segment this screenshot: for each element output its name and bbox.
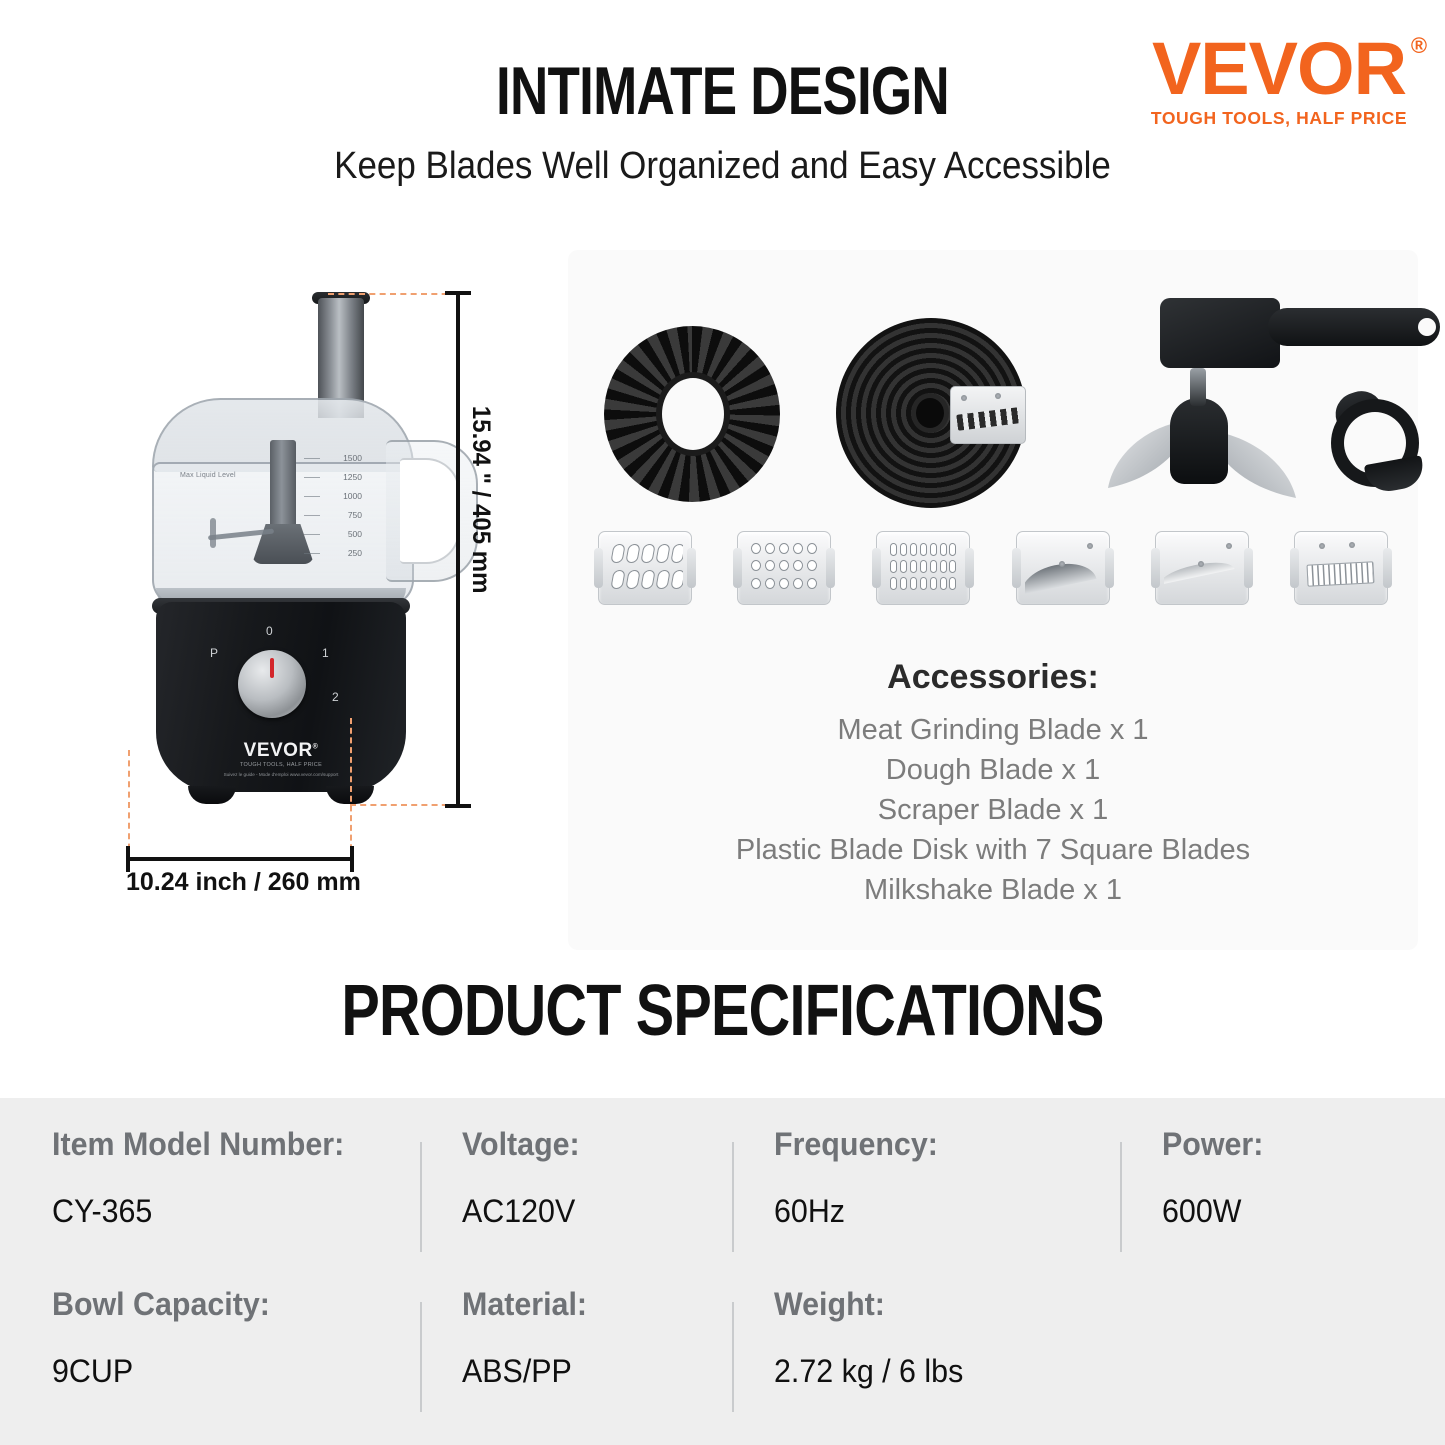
base-foot-left <box>188 786 236 804</box>
specs-table: Item Model Number: CY-365 Voltage: AC120… <box>0 1098 1445 1445</box>
spec-label: Weight: <box>774 1286 1103 1323</box>
specs-row-2: Bowl Capacity: 9CUP Material: ABS/PP Wei… <box>0 1286 1445 1436</box>
julienne-insert <box>1294 531 1388 605</box>
spec-value: ABS/PP <box>462 1353 719 1390</box>
list-item: Meat Grinding Blade x 1 <box>568 710 1418 750</box>
spatula-head <box>1160 298 1280 368</box>
accessories-insert-blades <box>598 528 1388 608</box>
screw-icon <box>1198 561 1204 567</box>
spec-value: CY-365 <box>52 1193 402 1230</box>
spec-cell-bowl-capacity: Bowl Capacity: 9CUP <box>0 1286 420 1436</box>
knob-label-p: P <box>210 646 218 660</box>
spec-value: 2.72 kg / 6 lbs <box>774 1353 1103 1390</box>
inner-blade-arm-vertical <box>210 518 216 548</box>
insert-face <box>885 539 961 597</box>
base-brand-tagline: TOUGH TOOLS, HALF PRICE <box>156 762 406 768</box>
bowl-max-liquid-label: Max Liquid Level <box>180 472 236 479</box>
fine-grate-holes <box>885 539 961 597</box>
list-item: Scraper Blade x 1 <box>568 790 1418 830</box>
spec-divider <box>732 1302 734 1412</box>
spec-value: 60Hz <box>774 1193 1103 1230</box>
shred-holes <box>607 539 683 597</box>
knob-label-0: 0 <box>266 624 273 638</box>
accessories-list: Meat Grinding Blade x 1 Dough Blade x 1 … <box>568 710 1418 910</box>
width-dimension-line <box>126 857 354 861</box>
height-arrow-cap-bottom <box>445 804 471 808</box>
brand-name: VEVOR <box>1152 27 1406 110</box>
knob-label-1: 1 <box>322 646 329 660</box>
spec-cell-frequency: Frequency: 60Hz <box>732 1126 1120 1276</box>
spec-cell-voltage: Voltage: AC120V <box>420 1126 732 1276</box>
screw-icon <box>995 393 1001 399</box>
medium-grate-insert <box>737 531 831 605</box>
insert-face <box>607 539 683 597</box>
spec-cell-power: Power: 600W <box>1120 1126 1440 1276</box>
screw-icon <box>1226 543 1232 549</box>
serrated-blade-icon <box>956 407 1019 430</box>
spec-cell-weight: Weight: 2.72 kg / 6 lbs <box>732 1286 1120 1436</box>
spec-cell-material: Material: ABS/PP <box>420 1286 732 1436</box>
header: INTIMATE DESIGN Keep Blades Well Organiz… <box>0 0 1445 230</box>
spatula-handle <box>1268 308 1440 346</box>
spec-label: Bowl Capacity: <box>52 1286 402 1323</box>
width-leader-left <box>128 750 130 860</box>
height-dimension-label: 15.94 " / 405 mm <box>466 406 495 594</box>
spec-value: 9CUP <box>52 1353 402 1390</box>
list-item: Milkshake Blade x 1 <box>568 870 1418 910</box>
product-dimension-diagram: Max Liquid Level 1500 1250 1000 750 500 … <box>60 250 530 890</box>
spec-cell-model: Item Model Number: CY-365 <box>0 1126 420 1276</box>
bowl-mark: 500 <box>348 530 362 539</box>
height-leader-top <box>328 293 458 295</box>
bowl-tick <box>304 515 320 516</box>
dough-blade-image <box>1326 390 1432 492</box>
screw-icon <box>1059 561 1065 567</box>
screw-icon <box>1349 542 1355 548</box>
width-dimension-label: 10.24 inch / 260 mm <box>126 868 361 897</box>
base-fine-print: Suivez le guide - Mode d'emploi www.vevo… <box>156 772 406 778</box>
spec-label: Material: <box>462 1286 719 1323</box>
screw-icon <box>1087 543 1093 549</box>
bowl-mark: 750 <box>348 511 362 520</box>
spec-label: Frequency: <box>774 1126 1103 1163</box>
chopping-blade-stem <box>1190 368 1206 406</box>
grate-holes <box>746 539 822 597</box>
bowl-tick <box>304 496 320 497</box>
knob-label-2: 2 <box>332 690 339 704</box>
brand-tagline: TOUGH TOOLS, HALF PRICE <box>1141 108 1417 129</box>
bowl-tick <box>304 534 320 535</box>
base-brand-logo: VEVOR® <box>156 740 406 762</box>
bowl-measurement-scale: 1500 1250 1000 750 500 250 <box>304 454 362 566</box>
spec-value: AC120V <box>462 1193 719 1230</box>
coarse-shred-insert <box>598 531 692 605</box>
bowl-handle-opening <box>400 458 460 564</box>
list-item: Dough Blade x 1 <box>568 750 1418 790</box>
insert-face <box>1025 539 1101 597</box>
fine-grate-insert <box>876 531 970 605</box>
julienne-teeth <box>1306 561 1374 586</box>
spec-label: Item Model Number: <box>52 1126 402 1163</box>
registered-mark-icon: ® <box>1411 36 1426 57</box>
spec-divider <box>420 1142 422 1252</box>
bowl-mark: 1500 <box>343 454 362 463</box>
screw-icon <box>1319 543 1325 549</box>
spec-divider <box>732 1142 734 1252</box>
bowl-mark: 1000 <box>343 492 362 501</box>
bowl-tick <box>304 477 320 478</box>
width-leader-right <box>350 718 352 860</box>
insert-face <box>746 539 822 597</box>
spec-value: 600W <box>1162 1193 1426 1230</box>
knob-indicator-mark <box>270 658 274 678</box>
spec-label: Power: <box>1162 1126 1426 1163</box>
list-item: Plastic Blade Disk with 7 Square Blades <box>568 830 1418 870</box>
spec-label: Voltage: <box>462 1126 719 1163</box>
accessories-panel: Accessories: Meat Grinding Blade x 1 Dou… <box>568 250 1418 950</box>
screw-icon <box>961 395 967 401</box>
height-leader-bottom <box>350 804 458 806</box>
vevor-logo: VEVOR ® TOUGH TOOLS, HALF PRICE <box>1141 34 1417 129</box>
insert-face <box>1303 539 1379 597</box>
spatula-hang-hole <box>1418 318 1436 336</box>
page-subtitle: Keep Blades Well Organized and Easy Acce… <box>58 145 1387 188</box>
spiral-disk-blade-insert <box>950 386 1026 444</box>
specs-row-1: Item Model Number: CY-365 Voltage: AC120… <box>0 1126 1445 1276</box>
chopping-blade-hub <box>1170 398 1228 484</box>
thin-slice-insert <box>1155 531 1249 605</box>
bowl-tick <box>304 553 320 554</box>
specs-section-title: PRODUCT SPECIFICATIONS <box>145 970 1301 1052</box>
accessories-top-parts <box>568 280 1418 510</box>
insert-face <box>1164 539 1240 597</box>
spec-divider <box>420 1302 422 1412</box>
thick-slice-insert <box>1016 531 1110 605</box>
spec-divider <box>1120 1142 1122 1252</box>
spiral-disk-hub <box>916 398 944 428</box>
pleated-disk-hole <box>662 378 724 450</box>
bowl-mark: 1250 <box>343 473 362 482</box>
bowl-mark: 250 <box>348 549 362 558</box>
page-title: INTIMATE DESIGN <box>159 52 1286 130</box>
height-dimension-line <box>456 291 460 808</box>
bowl-tick <box>304 458 320 459</box>
brand-wordmark: VEVOR ® <box>1152 34 1406 104</box>
accessories-title: Accessories: <box>568 658 1418 697</box>
